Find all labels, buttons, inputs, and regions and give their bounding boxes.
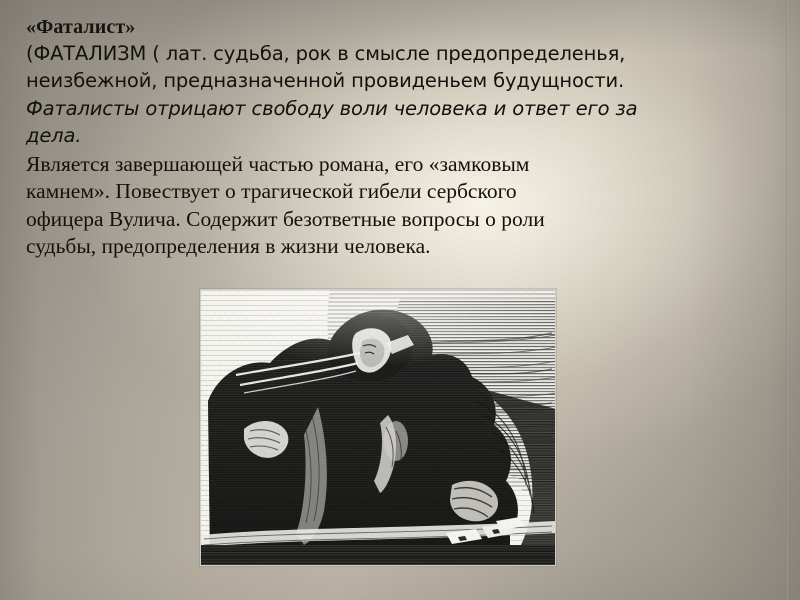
- description-line-4: судьбы, предопределения в жизни человека…: [26, 233, 752, 261]
- definition-italic-line-2: дела.: [26, 122, 752, 149]
- description-line-1: Является завершающей частью романа, его …: [26, 151, 752, 179]
- slide-text-content: «Фаталист» (ФАТАЛИЗМ ( лат. судьба, рок …: [26, 14, 752, 261]
- slide-canvas: «Фаталист» (ФАТАЛИЗМ ( лат. судьба, рок …: [0, 0, 800, 600]
- definition-italic-line-1: Фаталисты отрицают свободу воли человека…: [26, 95, 752, 122]
- description-line-2: камнем». Повествует о трагической гибели…: [26, 178, 752, 206]
- definition-line-1: (ФАТАЛИЗМ ( лат. судьба, рок в смысле пр…: [26, 40, 752, 67]
- slide-title: «Фаталист»: [26, 14, 752, 40]
- description-paragraph: Является завершающей частью романа, его …: [26, 151, 752, 261]
- description-line-3: офицера Вулича. Содержит безответные воп…: [26, 206, 752, 234]
- definition-line-2: неизбежной, предназначенной провиденьем …: [26, 67, 752, 94]
- engraving-illustration: [200, 289, 556, 566]
- slide-background-seam: [786, 0, 788, 600]
- engraving-illustration-graphic: [200, 289, 556, 566]
- definition-paragraph: (ФАТАЛИЗМ ( лат. судьба, рок в смысле пр…: [26, 40, 752, 150]
